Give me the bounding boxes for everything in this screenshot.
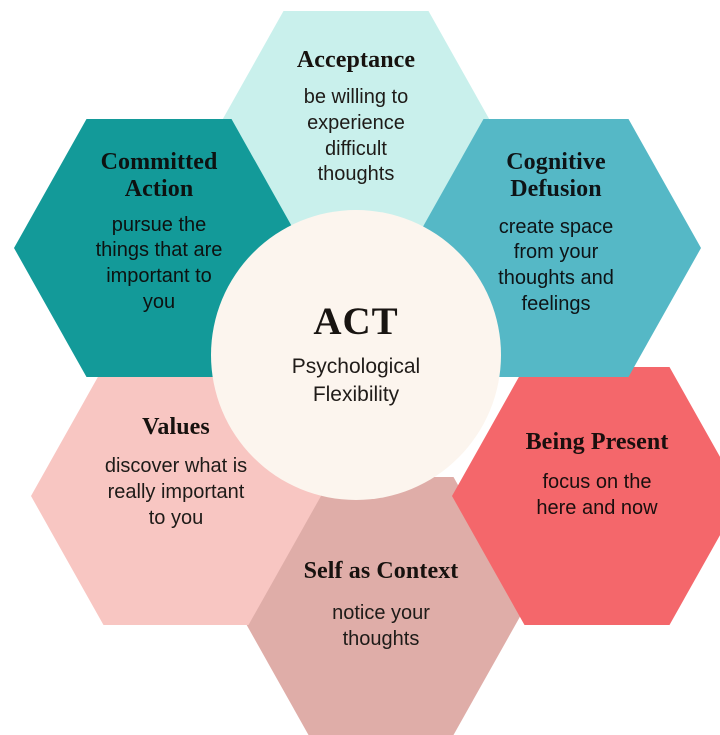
hexagon-committed-action-description: pursue the things that are important to … [96,213,223,315]
hexagon-cognitive-defusion-description: create space from your thoughts and feel… [498,215,614,317]
center-acronym: ACT [313,302,398,341]
hexagon-being-present-description: focus on the here and now [536,470,657,521]
hexagon-being-present-title: Being Present [526,429,669,456]
center-subtitle: Psychological Flexibility [292,353,420,408]
hexagon-committed-action-title: Committed Action [101,149,218,204]
hexagon-self-as-context-description: notice your thoughts [332,601,430,652]
hexagon-values-description: discover what is really important to you [105,454,247,531]
hexagon-cognitive-defusion-title: Cognitive Defusion [506,149,606,204]
hexagon-acceptance-title: Acceptance [297,47,415,74]
center-circle: ACT Psychological Flexibility [211,210,501,500]
hexagon-self-as-context-title: Self as Context [304,558,459,585]
act-hexaflex-diagram: Acceptance be willing to experience diff… [0,0,720,720]
hexagon-values-title: Values [142,414,210,441]
hexagon-acceptance-description: be willing to experience difficult thoug… [304,85,409,187]
